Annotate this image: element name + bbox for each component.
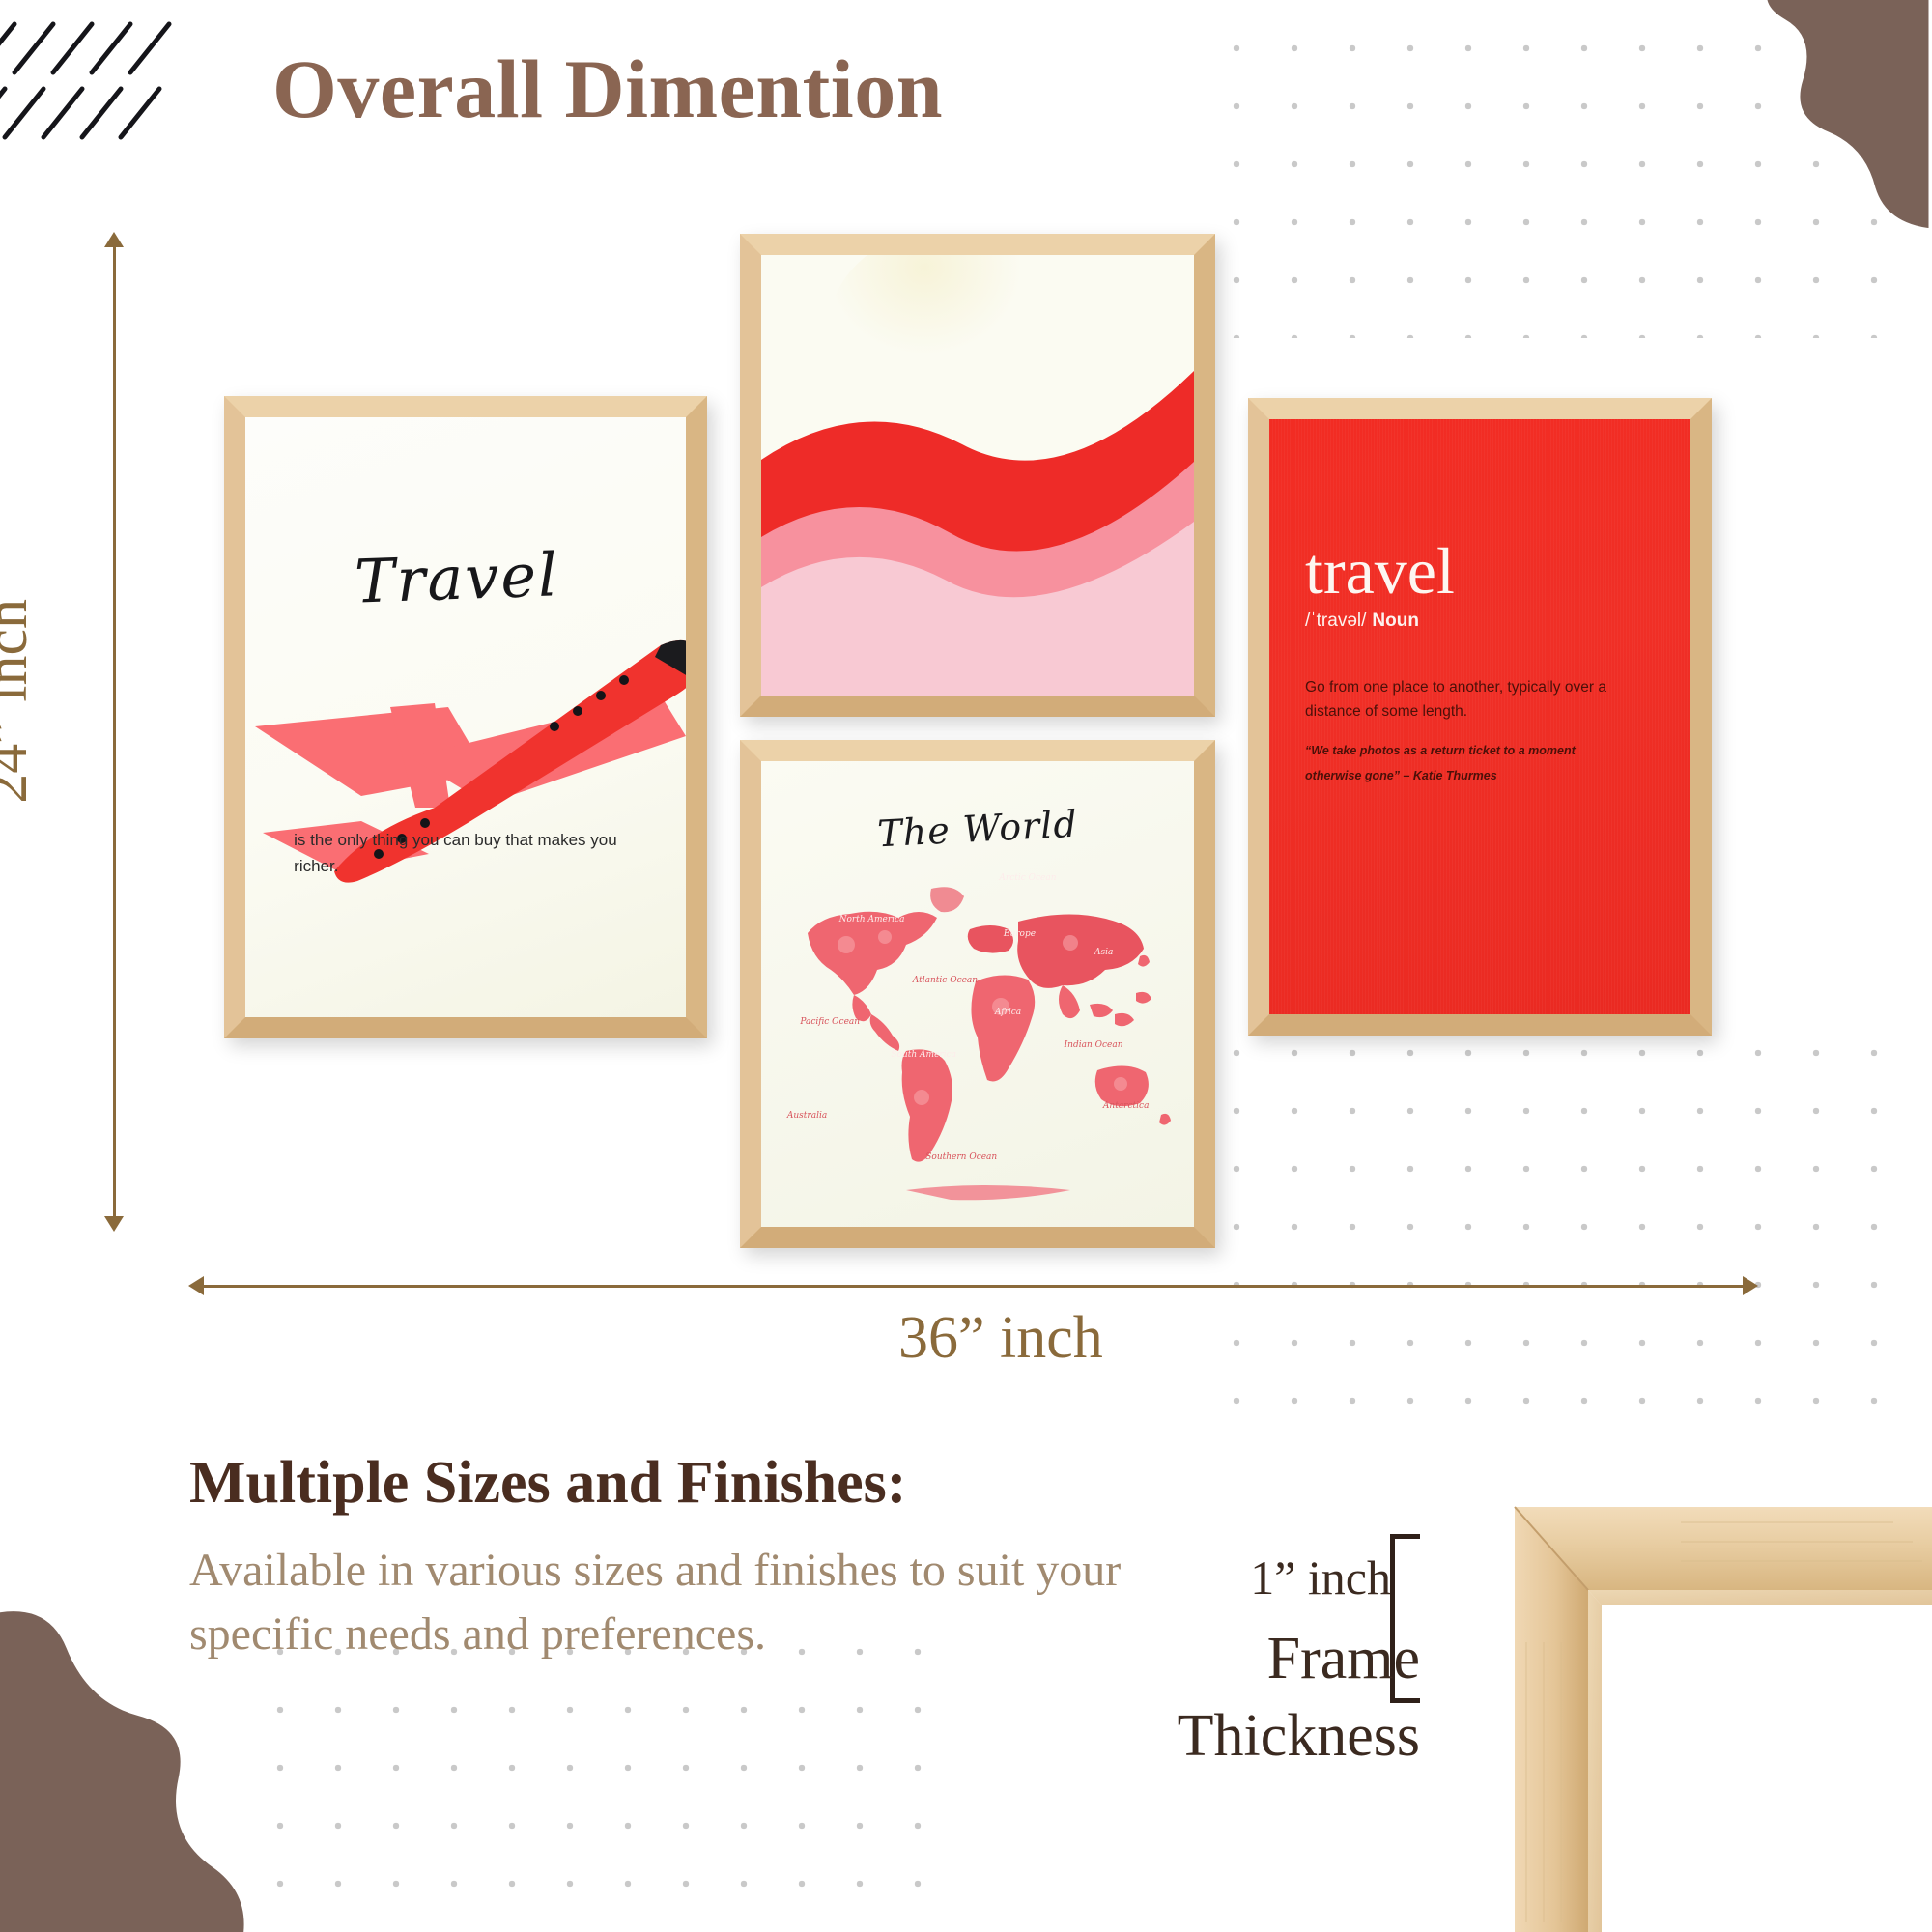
part-of-speech: Noun: [1372, 611, 1419, 631]
arrow-head-down-icon: [104, 1216, 124, 1232]
map-label-australia: Australia: [787, 1111, 827, 1121]
abstract-waves-poster: [761, 255, 1194, 696]
map-label-south-america: South America: [891, 1050, 956, 1060]
poster-script-title: Travel: [354, 540, 560, 617]
brown-blob-top-right: [1642, 0, 1932, 241]
travel-definition-poster: travel /ˈtravəl/Noun Go from one place t…: [1269, 419, 1690, 1014]
map-label-atlantic-ocean: Atlantic Ocean: [913, 976, 978, 985]
thickness-measure-label: 1” inch: [1250, 1549, 1391, 1605]
map-label-africa: Africa: [995, 1008, 1021, 1017]
definition-quote: “We take photos as a return ticket to a …: [1305, 738, 1642, 789]
diagonal-hatch-decoration: [0, 19, 222, 145]
poster-caption: is the only thing you can buy that makes…: [294, 828, 638, 879]
arrow-head-right-icon: [1743, 1276, 1758, 1295]
section-heading: Multiple Sizes and Finishes:: [189, 1449, 906, 1518]
travel-airplane-frame: Travel is the only thing you can buy tha…: [224, 396, 707, 1038]
map-label-antarctica: Antarctica: [1103, 1101, 1150, 1111]
world-map-poster: The World: [761, 761, 1194, 1227]
abstract-wave-illustration: [761, 255, 1194, 696]
map-label-arctic-ocean: Arctic Ocean: [999, 873, 1056, 883]
height-dimension-label: 24” inch: [0, 599, 42, 804]
width-dimension-arrow: [188, 1273, 1758, 1298]
world-map-frame: The World: [740, 740, 1215, 1248]
quote-line-1: “We take photos as a return ticket to a …: [1305, 738, 1642, 763]
infographic-canvas: Overall Dimention: [0, 0, 1932, 1932]
abstract-waves-frame: [740, 234, 1215, 717]
definition-word: travel: [1305, 538, 1455, 604]
height-dimension-arrow: [101, 232, 127, 1232]
thickness-caption-line-1: Frame: [1267, 1625, 1420, 1693]
map-label-north-america: North America: [839, 915, 905, 924]
dimension-line: [200, 1285, 1747, 1288]
dimension-line: [113, 243, 116, 1220]
map-label-pacific-ocean: Pacific Ocean: [800, 1017, 860, 1027]
frame-corner-detail-illustration: [1488, 1497, 1932, 1932]
map-label-europe: Europe: [1004, 929, 1036, 939]
definition-text: Go from one place to another, typically …: [1305, 675, 1659, 724]
thickness-caption-line-2: Thickness: [1178, 1702, 1420, 1771]
map-label-indian-ocean: Indian Ocean: [1065, 1040, 1123, 1050]
travel-airplane-poster: Travel is the only thing you can buy tha…: [245, 417, 686, 1017]
map-label-southern-ocean: Southern Ocean: [925, 1152, 997, 1162]
map-label-asia: Asia: [1094, 948, 1113, 957]
width-dimension-label: 36” inch: [898, 1304, 1103, 1373]
dot-grid-right: [1207, 1024, 1903, 1430]
quote-line-2: otherwise gone” – Katie Thurmes: [1305, 763, 1642, 788]
phonetic-text: /ˈtravəl/: [1305, 611, 1366, 631]
page-title: Overall Dimention: [272, 41, 943, 137]
airplane-illustration: [245, 417, 686, 1017]
section-body-text: Available in various sizes and finishes …: [189, 1539, 1242, 1666]
definition-phonetic-row: /ˈtravəl/Noun: [1305, 611, 1419, 632]
travel-definition-frame: travel /ˈtravəl/Noun Go from one place t…: [1248, 398, 1712, 1036]
